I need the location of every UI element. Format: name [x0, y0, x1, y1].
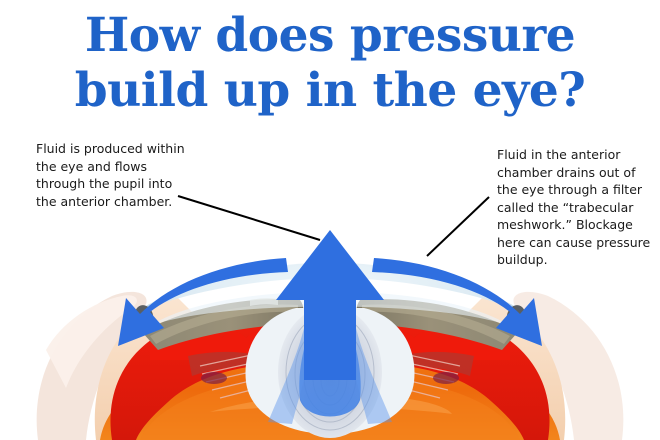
title-line-1: How does pressure	[0, 8, 660, 63]
infographic-root: How does pressure build up in the eye? F…	[0, 0, 660, 440]
caption-left: Fluid is produced within the eye and flo…	[36, 140, 196, 210]
title-line-2: build up in the eye?	[0, 63, 660, 118]
caption-right: Fluid in the anterior chamber drains out…	[497, 146, 655, 269]
page-title: How does pressure build up in the eye?	[0, 8, 660, 118]
